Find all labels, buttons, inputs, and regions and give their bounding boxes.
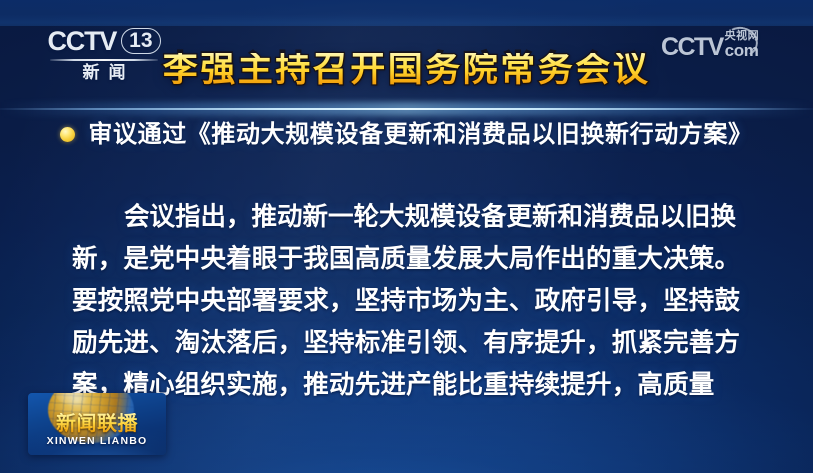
broadcast-frame: CCTV 13 新闻 CCTV 央视网 com 李强主持召开国务院常务会议 李强… [0,0,813,473]
body-line: 案，精心组织实施，推动先进产能比重持续提升，高质量 [72,364,755,406]
xinwen-lianbo-bug: 新闻联播 XINWEN LIANBO [28,393,166,455]
cctv13-wordmark: CCTV [47,28,116,55]
cctv13-logo-row: CCTV 13 [40,26,168,56]
body-line: 会议指出，推动新一轮大规模设备更新和消费品以旧换 [72,196,755,238]
bug-en-title: XINWEN LIANBO [28,436,166,447]
body-line: 新，是党中央着眼于我国高质量发展大局作出的重大决策。 [72,238,755,280]
body-line: 要按照党中央部署要求，坚持市场为主、政府引导，坚持鼓 [72,280,755,322]
page-title: 李强主持召开国务院常务会议 [0,53,813,88]
body-line: 励先进、淘汰落后，坚持标准引领、有序提升，抓紧完善方 [72,322,755,364]
subtitle-text: 审议通过《推动大规模设备更新和消费品以旧换新行动方案》 [88,122,752,146]
body-copy: 会议指出，推动新一轮大规模设备更新和消费品以旧换 新，是党中央着眼于我国高质量发… [72,196,755,406]
cctv13-channel-number: 13 [121,28,160,54]
bullet-dot-icon [60,127,75,142]
subtitle-row: 审议通过《推动大规模设备更新和消费品以旧换新行动方案》 [0,122,813,146]
bug-cn-title: 新闻联播 [28,413,166,433]
